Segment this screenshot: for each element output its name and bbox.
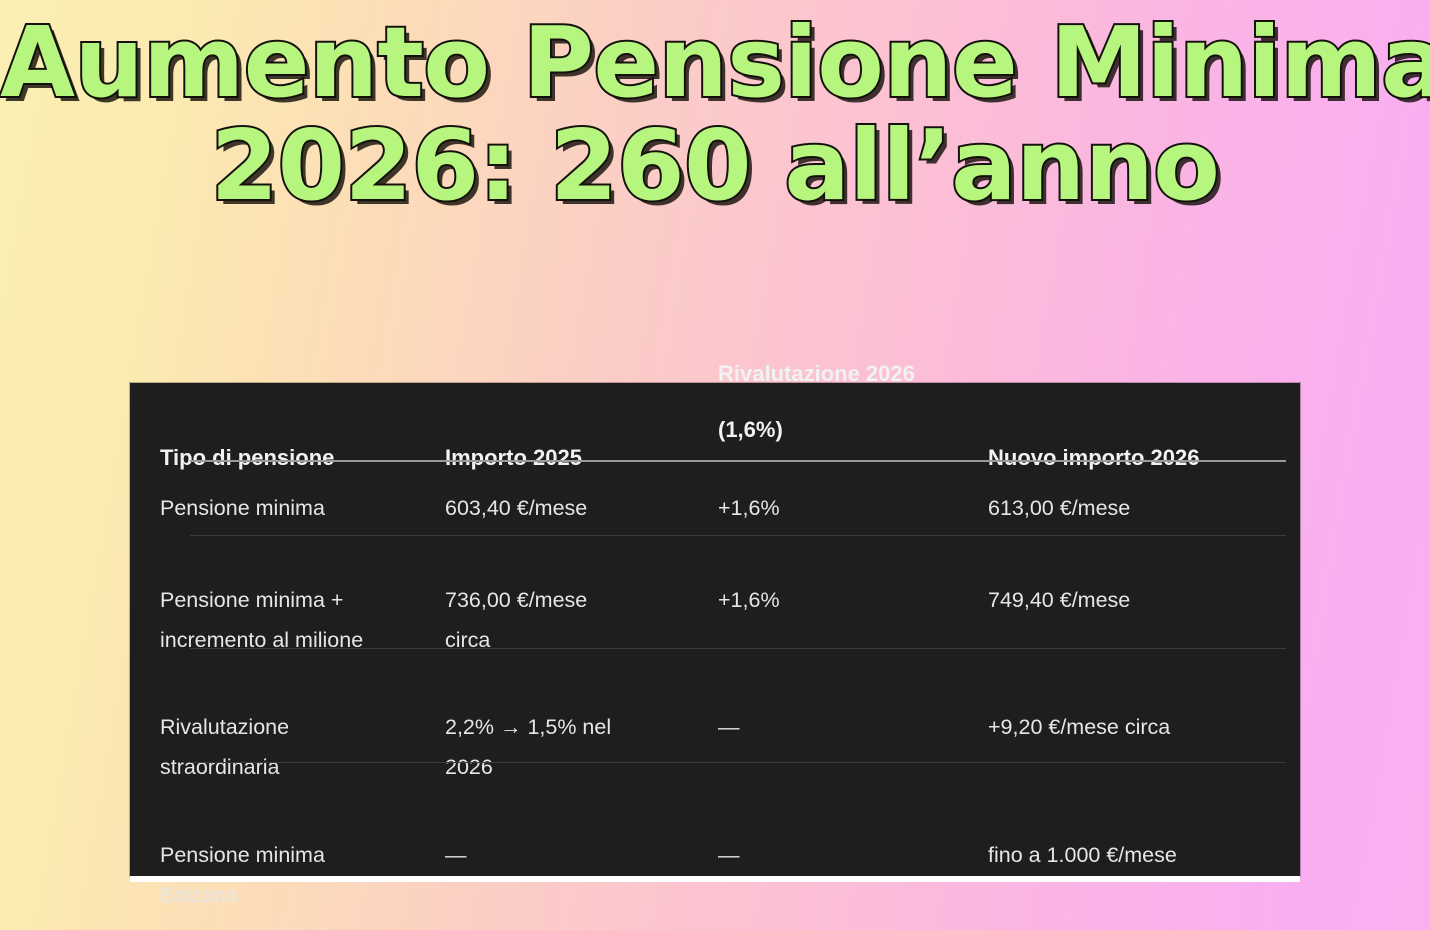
cell-importo-2025: 2,2% → 1,5% nel 2026: [445, 707, 718, 787]
cell-nuovo-importo-2026: +9,20 €/mese circa: [988, 707, 1256, 747]
cell-rivalutazione-2026: —: [718, 707, 988, 747]
table-row: Pensione minima 603,40 €/mese +1,6% 613,…: [160, 474, 1256, 566]
cell-nuovo-importo-2026: fino a 1.000 €/mese: [988, 835, 1256, 875]
cell-rivalutazione-2026: —: [718, 835, 988, 875]
row-divider: [190, 648, 1286, 649]
poster-canvas: Aumento Pensione Minima 2026: 260 all’an…: [0, 0, 1430, 930]
column-header-tipo-di-pensione: Tipo di pensione: [160, 444, 445, 474]
cell-tipo: Rivalutazione straordinaria: [160, 707, 445, 787]
title-line-2: 2026: 260 all’anno: [0, 117, 1430, 214]
column-header-rivalutazione-2026-line2: (1,6%): [718, 416, 974, 444]
cell-nuovo-importo-2026: 749,40 €/mese: [988, 580, 1256, 620]
header-divider: [190, 460, 1286, 462]
title-line-1: Aumento Pensione Minima: [0, 14, 1430, 111]
row-divider: [190, 762, 1286, 763]
row-divider: [190, 535, 1286, 536]
cell-tipo: Pensione minima Bolzano: [160, 835, 445, 915]
column-header-rivalutazione-2026: Rivalutazione 2026 (1,6%): [718, 332, 988, 474]
cell-rivalutazione-2026: +1,6%: [718, 580, 988, 620]
column-header-rivalutazione-2026-line1: Rivalutazione 2026: [718, 360, 974, 388]
column-header-importo-2025: Importo 2025: [445, 444, 718, 474]
cell-rivalutazione-2026: +1,6%: [718, 488, 988, 528]
column-header-nuovo-importo-2026: Nuovo importo 2026: [988, 444, 1256, 474]
cell-tipo: Pensione minima: [160, 488, 445, 528]
table-row: Rivalutazione straordinaria 2,2% → 1,5% …: [160, 693, 1256, 821]
pension-table: Tipo di pensione Importo 2025 Rivalutazi…: [160, 383, 1256, 876]
pension-table-card: Tipo di pensione Importo 2025 Rivalutazi…: [130, 383, 1300, 876]
table-row: Pensione minima + incremento al milione …: [160, 566, 1256, 693]
cell-importo-2025: —: [445, 835, 718, 875]
cell-nuovo-importo-2026: 613,00 €/mese: [988, 488, 1256, 528]
cell-importo-2025: 603,40 €/mese: [445, 488, 718, 528]
page-title: Aumento Pensione Minima 2026: 260 all’an…: [0, 14, 1430, 214]
table-row: Pensione minima Bolzano — — fino a 1.000…: [160, 821, 1256, 930]
